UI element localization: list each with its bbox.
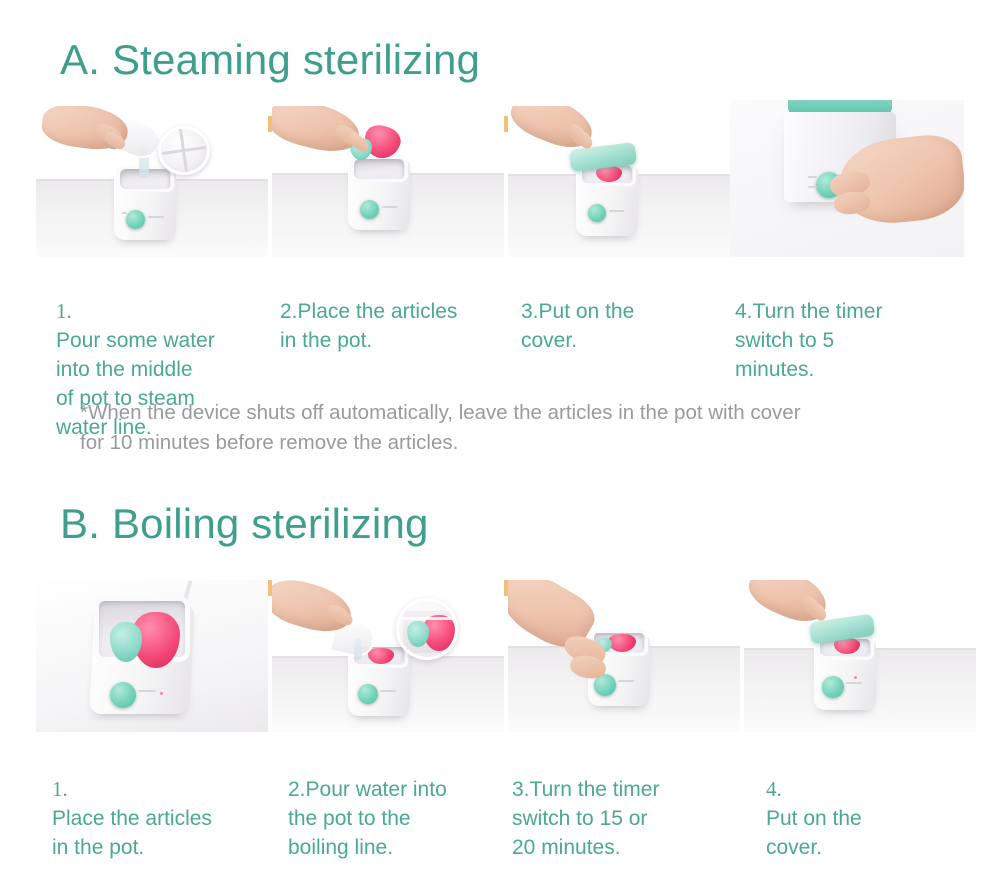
step-number: 3. [512, 778, 530, 801]
step-number: 1. [52, 777, 68, 801]
section-a-heading: A. Steaming sterilizing [48, 38, 494, 82]
step-text: Place the articles in the pot. [52, 807, 212, 859]
section-a-step-1-photo [36, 106, 268, 257]
step-text: Put on the cover. [521, 300, 634, 352]
step-number: 4. [735, 300, 753, 323]
section-a-step-2-photo [272, 106, 504, 257]
step-text: Turn the timer switch to 5 minutes. [735, 300, 882, 381]
section-b-step-3-caption: 3.Turn the timer switch to 15 or 20 minu… [512, 746, 718, 862]
section-a-note: *When the device shuts off automatically… [80, 398, 980, 458]
section-b-step-4-photo [744, 580, 976, 732]
step-text: Turn the timer switch to 15 or 20 minute… [512, 778, 659, 859]
step-number: 4. [766, 777, 782, 801]
section-b-step-2-caption: 2.Pour water into the pot to the boiling… [288, 746, 494, 862]
section-steaming-sterilizing: A. Steaming sterilizing [0, 38, 1000, 82]
section-b-heading: B. Boiling sterilizing [48, 502, 443, 546]
section-a-step-3-caption: 3.Put on the cover. [521, 268, 721, 355]
step-text: Place the articles in the pot. [280, 300, 457, 352]
section-a-step-2-caption: 2.Place the articles in the pot. [280, 268, 496, 355]
section-b-step-3-photo [508, 580, 740, 732]
step-text: Pour water into the pot to the boiling l… [288, 778, 447, 859]
step-number: 1. [56, 299, 72, 323]
step-number: 3. [521, 300, 539, 323]
step-text: Put on the cover. [766, 807, 862, 859]
section-b-step-2-photo [272, 580, 504, 732]
section-boiling-sterilizing: B. Boiling sterilizing [0, 502, 1000, 546]
section-b-heading-text: B. Boiling sterilizing [60, 500, 429, 547]
instruction-sheet-page: A. Steaming sterilizing [0, 0, 1000, 884]
section-a-heading-text: A. Steaming sterilizing [60, 36, 480, 83]
magnified-boiling-line-inset [396, 598, 458, 660]
section-b-step-1-photo [36, 580, 268, 732]
section-a-step-3-photo [508, 106, 740, 257]
section-a-step-4-caption: 4.Turn the timer switch to 5 minutes. [735, 268, 945, 384]
section-b-step-1-caption: 1. Place the articles in the pot. [52, 746, 266, 862]
step-number: 2. [280, 300, 298, 323]
section-a-step-4-photo [730, 100, 964, 257]
section-b-step-4-caption: 4. Put on the cover. [766, 746, 966, 862]
step-number: 2. [288, 778, 306, 801]
